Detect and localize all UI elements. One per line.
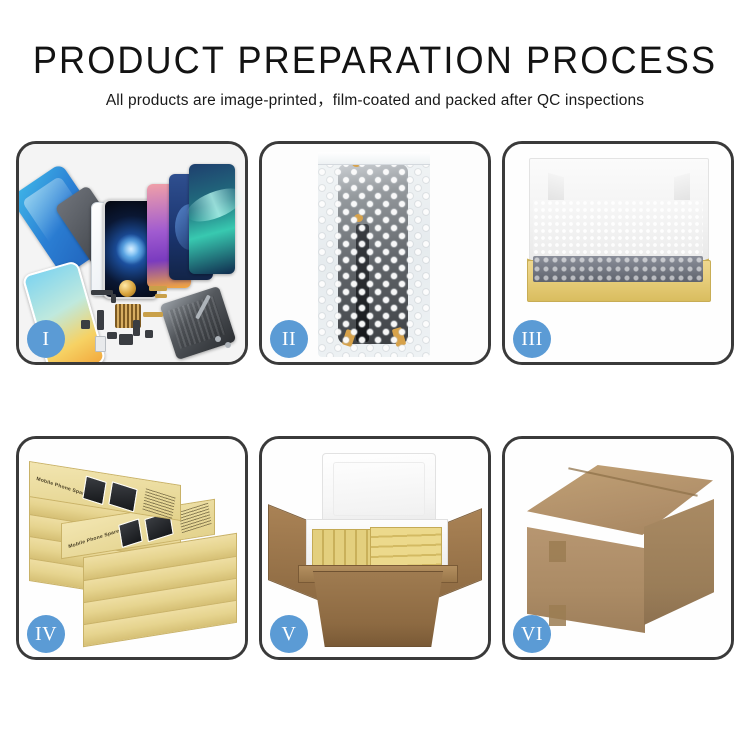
small-part [133, 320, 140, 336]
carton-body [304, 571, 452, 647]
process-step-panel-3[interactable]: III [502, 141, 734, 365]
small-part [155, 294, 167, 298]
small-part [119, 334, 133, 345]
small-part [111, 294, 116, 303]
small-part [97, 310, 104, 330]
carton-tape-tab-bottom [549, 605, 566, 626]
grey-bubble-wrap-contents [533, 256, 703, 282]
small-part [95, 336, 106, 352]
small-part [143, 312, 163, 317]
step-number-badge-3: III [513, 320, 551, 358]
step-number-badge-6: VI [513, 615, 551, 653]
foam-box-lid [322, 453, 436, 529]
page-header: PRODUCT PREPARATION PROCESS All products… [0, 0, 750, 110]
process-step-panel-6[interactable]: VI [502, 436, 734, 660]
carton-tape-tab-top [549, 541, 566, 562]
process-step-panel-5[interactable]: V [259, 436, 491, 660]
process-step-panel-1[interactable]: I [16, 141, 248, 365]
screw [225, 342, 231, 348]
bubble-texture [318, 152, 430, 357]
opened-phone-chassis [160, 286, 237, 360]
small-part [81, 320, 90, 329]
small-part [145, 330, 153, 338]
page-subtitle: All products are image-printed，film-coat… [0, 82, 750, 110]
process-step-panel-2[interactable]: II [259, 141, 491, 365]
carton-front-face [527, 527, 645, 633]
small-part [149, 286, 167, 291]
step-number-badge-2: II [270, 320, 308, 358]
screw [215, 336, 221, 342]
step-number-badge-4: IV [27, 615, 65, 653]
white-foam-liner [533, 200, 703, 260]
small-part [91, 290, 113, 295]
process-step-panel-4[interactable]: Mobile Phone Spare Parts Mobile Phone Sp… [16, 436, 248, 660]
teal-wave-phone [189, 164, 235, 274]
bag-seal [318, 152, 430, 165]
bubble-wrap-bag [318, 152, 430, 357]
page-title: PRODUCT PREPARATION PROCESS [19, 0, 732, 82]
process-step-grid: I II [16, 141, 734, 660]
small-part [107, 332, 117, 339]
step-number-badge-5: V [270, 615, 308, 653]
step-number-badge-1: I [27, 320, 65, 358]
gold-component [119, 280, 136, 297]
